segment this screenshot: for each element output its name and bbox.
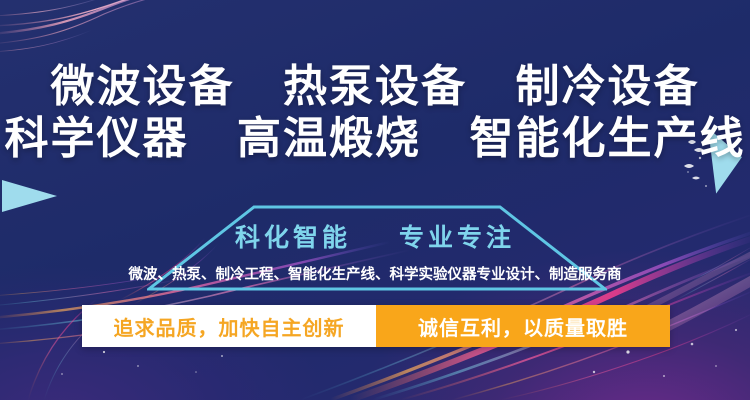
plaque-title: 科化智能 专业专注 xyxy=(0,218,750,254)
headline-seg-microwave: 微波设备 xyxy=(51,62,235,111)
plaque-title-right: 专业专注 xyxy=(399,224,515,252)
headline: 微波设备 热泵设备 制冷设备 科学仪器 高温煅烧 智能化生产线 xyxy=(0,62,750,164)
headline-seg-instruments: 科学仪器 xyxy=(5,114,189,163)
slogan-bar: 追求品质，加快自主创新 诚信互利，以质量取胜 xyxy=(82,305,670,347)
slogan-left: 追求品质，加快自主创新 xyxy=(82,305,376,347)
promo-banner: 微波设备 热泵设备 制冷设备 科学仪器 高温煅烧 智能化生产线 科化智能 专业专… xyxy=(0,0,750,400)
headline-seg-smartline: 智能化生产线 xyxy=(469,114,745,163)
plaque-title-left: 科化智能 xyxy=(235,224,351,252)
headline-seg-calcination: 高温煅烧 xyxy=(237,114,421,163)
slogan-right: 诚信互利，以质量取胜 xyxy=(376,305,670,347)
plaque-subtitle: 微波、热泵、制冷工程、智能化生产线、科学实验仪器专业设计、制造服务商 xyxy=(0,263,750,284)
headline-line-1: 微波设备 热泵设备 制冷设备 xyxy=(0,62,750,111)
headline-line-2: 科学仪器 高温煅烧 智能化生产线 xyxy=(0,114,750,163)
headline-seg-refrigeration: 制冷设备 xyxy=(515,62,699,111)
headline-seg-heatpump: 热泵设备 xyxy=(283,62,467,111)
triangle-right-icon-left xyxy=(2,180,57,212)
